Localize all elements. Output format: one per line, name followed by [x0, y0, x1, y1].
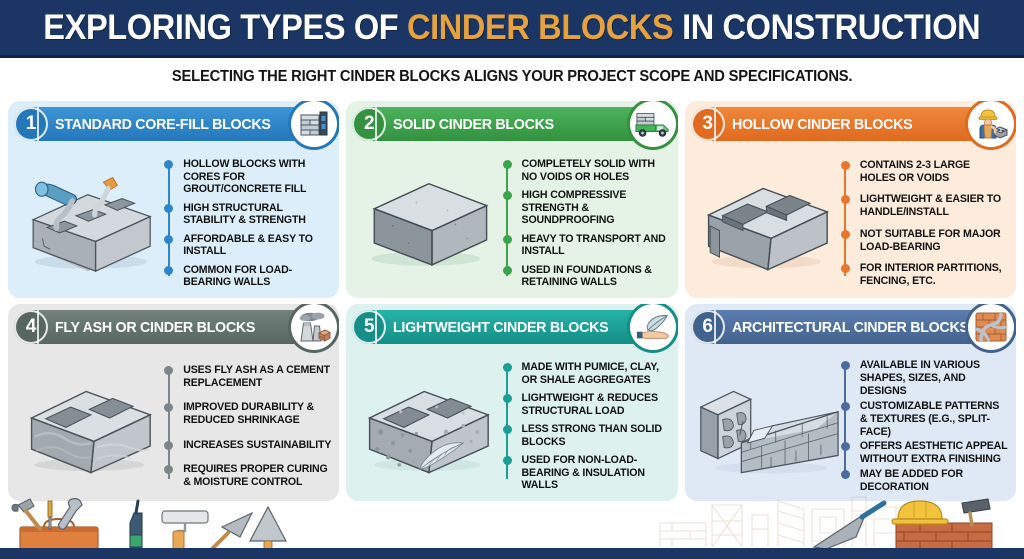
card-title: ARCHITECTURAL CINDER BLOCKS [732, 319, 969, 336]
bullet-dot [164, 160, 173, 169]
bullet-text: CUSTOMIZABLE PATTERNS & TEXTURES (e.g., … [860, 400, 999, 438]
bullet-spine [168, 165, 170, 276]
blueprint-sketch [660, 497, 920, 547]
brick-wall-trowel-helmet-icon [814, 499, 992, 549]
bullet-text: FOR INTERIOR PARTITIONS, FENCING, ETC. [860, 262, 1002, 287]
bullet-dot [503, 235, 512, 244]
bullet-dot [841, 264, 850, 273]
card-header: 3 HOLLOW CINDER BLOCKS [691, 107, 1010, 141]
number-separator [714, 107, 724, 141]
delivery-truck-icon [630, 101, 676, 147]
bullet-text: HEAVY TO TRANSPORT AND INSTALL [522, 233, 666, 258]
card-bullet-list: COMPLETELY SOLID WITH NO VOIDS OR HOLES … [503, 151, 670, 292]
bullet-text: CONTAINS 2-3 LARGE HOLES OR VOIDS [860, 159, 970, 184]
card-title: FLY ASH OR CINDER BLOCKS [55, 319, 255, 336]
bullet-item: HOLLOW BLOCKS WITH CORES FOR GROUT/CONCR… [179, 158, 331, 197]
brick-wall-icon [291, 101, 337, 147]
bullet-dot [503, 266, 512, 275]
bullet-dot [503, 425, 512, 434]
bullet-item: CONTAINS 2-3 LARGE HOLES OR VOIDS [856, 159, 1008, 185]
card-body: MADE WITH PUMICE, CLAY, OR SHALE AGGREGA… [346, 348, 677, 501]
bullet-text: IMPROVED DURABILITY & REDUCED SHRINKAGE [183, 401, 314, 426]
bullet-dot [164, 441, 173, 450]
bullet-dot [841, 402, 850, 411]
bullet-item: HIGH STRUCTURAL STABILITY & STRENGTH [179, 202, 331, 228]
number-separator [375, 107, 385, 141]
number-separator [375, 310, 385, 344]
page-subtitle: SELECTING THE RIGHT CINDER BLOCKS ALIGNS… [172, 68, 852, 86]
bullet-spine [844, 165, 846, 276]
bullet-dot [164, 235, 173, 244]
bullet-text: AVAILABLE IN VARIOUS SHAPES, SIZES, AND … [860, 359, 980, 397]
bullet-text: AFFORDABLE & EASY TO INSTALL [183, 233, 313, 258]
bullet-item: REQUIRES PROPER CURING & MOISTURE CONTRO… [179, 463, 331, 489]
bullet-item: USES FLY ASH AS A CEMENT REPLACEMENT [179, 364, 331, 390]
card-lightweight-cinder-blocks[interactable]: 5 LIGHTWEIGHT CINDER BLOCKS [346, 304, 677, 501]
bullet-item: MADE WITH PUMICE, CLAY, OR SHALE AGGREGA… [518, 361, 670, 387]
bullet-item: INCREASES SUSTAINABILITY [179, 439, 331, 452]
bullet-dot [164, 266, 173, 275]
subtitle-bar: SELECTING THE RIGHT CINDER BLOCKS ALIGNS… [0, 58, 1024, 96]
card-header: 1 STANDARD CORE-FILL BLOCKS [14, 107, 333, 141]
bullet-item: COMPLETELY SOLID WITH NO VOIDS OR HOLES [518, 158, 670, 184]
bullet-dot [164, 403, 173, 412]
construction-tools-icon [12, 499, 286, 549]
bullet-item: NOT SUITABLE FOR MAJOR LOAD-BEARING [856, 228, 1008, 254]
page-title: EXPLORING TYPES OF CINDER BLOCKS IN CONS… [43, 8, 980, 48]
card-hollow-cinder-blocks[interactable]: 3 HOLLOW CINDER BLOCKS [685, 101, 1016, 298]
bullet-text: USED IN FOUNDATIONS & RETAINING WALLS [522, 264, 652, 289]
cards-grid: 1 STANDARD CORE-FILL BLOCKS [8, 101, 1016, 501]
bullet-dot [503, 363, 512, 372]
bullet-text: HOLLOW BLOCKS WITH CORES FOR GROUT/CONCR… [183, 158, 306, 196]
card-bullet-list: CONTAINS 2-3 LARGE HOLES OR VOIDS LIGHTW… [841, 151, 1008, 292]
bullet-dot [503, 394, 512, 403]
bullet-item: AFFORDABLE & EASY TO INSTALL [179, 233, 331, 259]
bullet-dot [503, 191, 512, 200]
infographic-page: EXPLORING TYPES OF CINDER BLOCKS IN CONS… [0, 0, 1024, 559]
card-header: 2 SOLID CINDER BLOCKS [352, 107, 671, 141]
number-separator [37, 310, 47, 344]
bullet-item: COMMON FOR LOAD-BEARING WALLS [179, 264, 331, 290]
card-header: 5 LIGHTWEIGHT CINDER BLOCKS [352, 310, 671, 344]
bullet-text: HIGH COMPRESSIVE STRENGTH & SOUNDPROOFIN… [522, 189, 627, 227]
bullet-item: LIGHTWEIGHT & REDUCES STRUCTURAL LOAD [518, 392, 670, 418]
bullet-item: HIGH COMPRESSIVE STRENGTH & SOUNDPROOFIN… [518, 189, 670, 228]
bullet-item: LIGHTWEIGHT & EASIER TO HANDLE/INSTALL [856, 193, 1008, 219]
bullet-dot [841, 195, 850, 204]
hollow-block-illustration [693, 151, 841, 292]
bullet-item: LESS STRONG THAN SOLID BLOCKS [518, 423, 670, 449]
card-body: USES FLY ASH AS A CEMENT REPLACEMENT IMP… [8, 348, 339, 501]
card-fly-ash-or-cinder-blocks[interactable]: 4 FLY ASH OR CINDER BLOCKS [8, 304, 339, 501]
bullet-text: COMMON FOR LOAD-BEARING WALLS [183, 264, 292, 289]
card-body: COMPLETELY SOLID WITH NO VOIDS OR HOLES … [346, 145, 677, 298]
card-standard-core-fill-blocks[interactable]: 1 STANDARD CORE-FILL BLOCKS [8, 101, 339, 298]
power-plant-icon [291, 304, 337, 350]
title-part-1: EXPLORING TYPES OF [43, 8, 407, 47]
number-separator [37, 107, 47, 141]
card-bullet-list: USES FLY ASH AS A CEMENT REPLACEMENT IMP… [164, 354, 331, 495]
card-title: STANDARD CORE-FILL BLOCKS [55, 116, 271, 133]
card-body: AVAILABLE IN VARIOUS SHAPES, SIZES, AND … [685, 348, 1016, 501]
bullet-item: IMPROVED DURABILITY & REDUCED SHRINKAGE [179, 401, 331, 427]
decorative-brick-icon [968, 304, 1014, 350]
solid-block-illustration [354, 151, 502, 292]
bullet-item: CUSTOMIZABLE PATTERNS & TEXTURES (e.g., … [856, 400, 1008, 439]
bullet-item: AVAILABLE IN VARIOUS SHAPES, SIZES, AND … [856, 359, 1008, 398]
bullet-dot [841, 230, 850, 239]
bullet-text: LIGHTWEIGHT & EASIER TO HANDLE/INSTALL [860, 193, 1001, 218]
header-banner: EXPLORING TYPES OF CINDER BLOCKS IN CONS… [0, 0, 1024, 58]
card-body: CONTAINS 2-3 LARGE HOLES OR VOIDS LIGHTW… [685, 145, 1016, 298]
bullet-text: OFFERS AESTHETIC APPEAL WITHOUT EXTRA FI… [860, 440, 1007, 465]
bullet-dot [164, 366, 173, 375]
bullet-text: MAY BE ADDED FOR DECORATION [860, 468, 963, 493]
bullet-spine [168, 368, 170, 479]
bullet-dot [164, 465, 173, 474]
bullet-item: USED IN FOUNDATIONS & RETAINING WALLS [518, 264, 670, 290]
card-bullet-list: AVAILABLE IN VARIOUS SHAPES, SIZES, AND … [841, 354, 1008, 495]
bullet-dot [841, 470, 850, 479]
bullet-text: USES FLY ASH AS A CEMENT REPLACEMENT [183, 364, 330, 389]
card-title: LIGHTWEIGHT CINDER BLOCKS [393, 319, 608, 336]
bullet-spine [506, 165, 508, 276]
bullet-item: HEAVY TO TRANSPORT AND INSTALL [518, 233, 670, 259]
bullet-item: MAY BE ADDED FOR DECORATION [856, 468, 1008, 494]
worker-with-block-icon [968, 101, 1014, 147]
bullet-item: OFFERS AESTHETIC APPEAL WITHOUT EXTRA FI… [856, 440, 1008, 466]
feather-on-hand-icon [630, 304, 676, 350]
bullet-text: LESS STRONG THAN SOLID BLOCKS [522, 423, 662, 448]
bullet-dot [841, 442, 850, 451]
architectural-block-illustration [693, 354, 841, 495]
bullet-text: USED FOR NON-LOAD-BEARING & INSULATION W… [522, 454, 645, 492]
card-body: HOLLOW BLOCKS WITH CORES FOR GROUT/CONCR… [8, 145, 339, 298]
card-architectural-cinder-blocks[interactable]: 6 ARCHITECTURAL CINDER BLOCKS [685, 304, 1016, 501]
title-accent: CINDER BLOCKS [407, 8, 673, 47]
bullet-text: INCREASES SUSTAINABILITY [183, 439, 331, 451]
card-header: 4 FLY ASH OR CINDER BLOCKS [14, 310, 333, 344]
card-bullet-list: MADE WITH PUMICE, CLAY, OR SHALE AGGREGA… [503, 354, 670, 495]
bullet-spine [844, 368, 846, 479]
title-part-2: IN CONSTRUCTION [674, 8, 981, 47]
footer-bar [0, 548, 1024, 559]
bullet-text: NOT SUITABLE FOR MAJOR LOAD-BEARING [860, 228, 1001, 253]
fly-ash-block-illustration [16, 354, 164, 495]
bullet-text: REQUIRES PROPER CURING & MOISTURE CONTRO… [183, 463, 327, 488]
bullet-dot [841, 361, 850, 370]
card-title: SOLID CINDER BLOCKS [393, 116, 554, 133]
bullet-dot [503, 160, 512, 169]
bullet-item: FOR INTERIOR PARTITIONS, FENCING, ETC. [856, 262, 1008, 288]
bullet-text: LIGHTWEIGHT & REDUCES STRUCTURAL LOAD [522, 392, 658, 417]
card-header: 6 ARCHITECTURAL CINDER BLOCKS [691, 310, 1010, 344]
card-title: HOLLOW CINDER BLOCKS [732, 116, 912, 133]
bullet-dot [164, 204, 173, 213]
bullet-dot [503, 456, 512, 465]
bullet-text: MADE WITH PUMICE, CLAY, OR SHALE AGGREGA… [522, 361, 659, 386]
card-bullet-list: HOLLOW BLOCKS WITH CORES FOR GROUT/CONCR… [164, 151, 331, 292]
card-solid-cinder-blocks[interactable]: 2 SOLID CINDER BLOCKS [346, 101, 677, 298]
number-separator [714, 310, 724, 344]
bullet-item: USED FOR NON-LOAD-BEARING & INSULATION W… [518, 454, 670, 493]
lightweight-block-illustration [354, 354, 502, 495]
bullet-text: HIGH STRUCTURAL STABILITY & STRENGTH [183, 202, 306, 227]
bullet-dot [841, 161, 850, 170]
core-fill-block-illustration [16, 151, 164, 292]
bullet-text: COMPLETELY SOLID WITH NO VOIDS OR HOLES [522, 158, 655, 183]
